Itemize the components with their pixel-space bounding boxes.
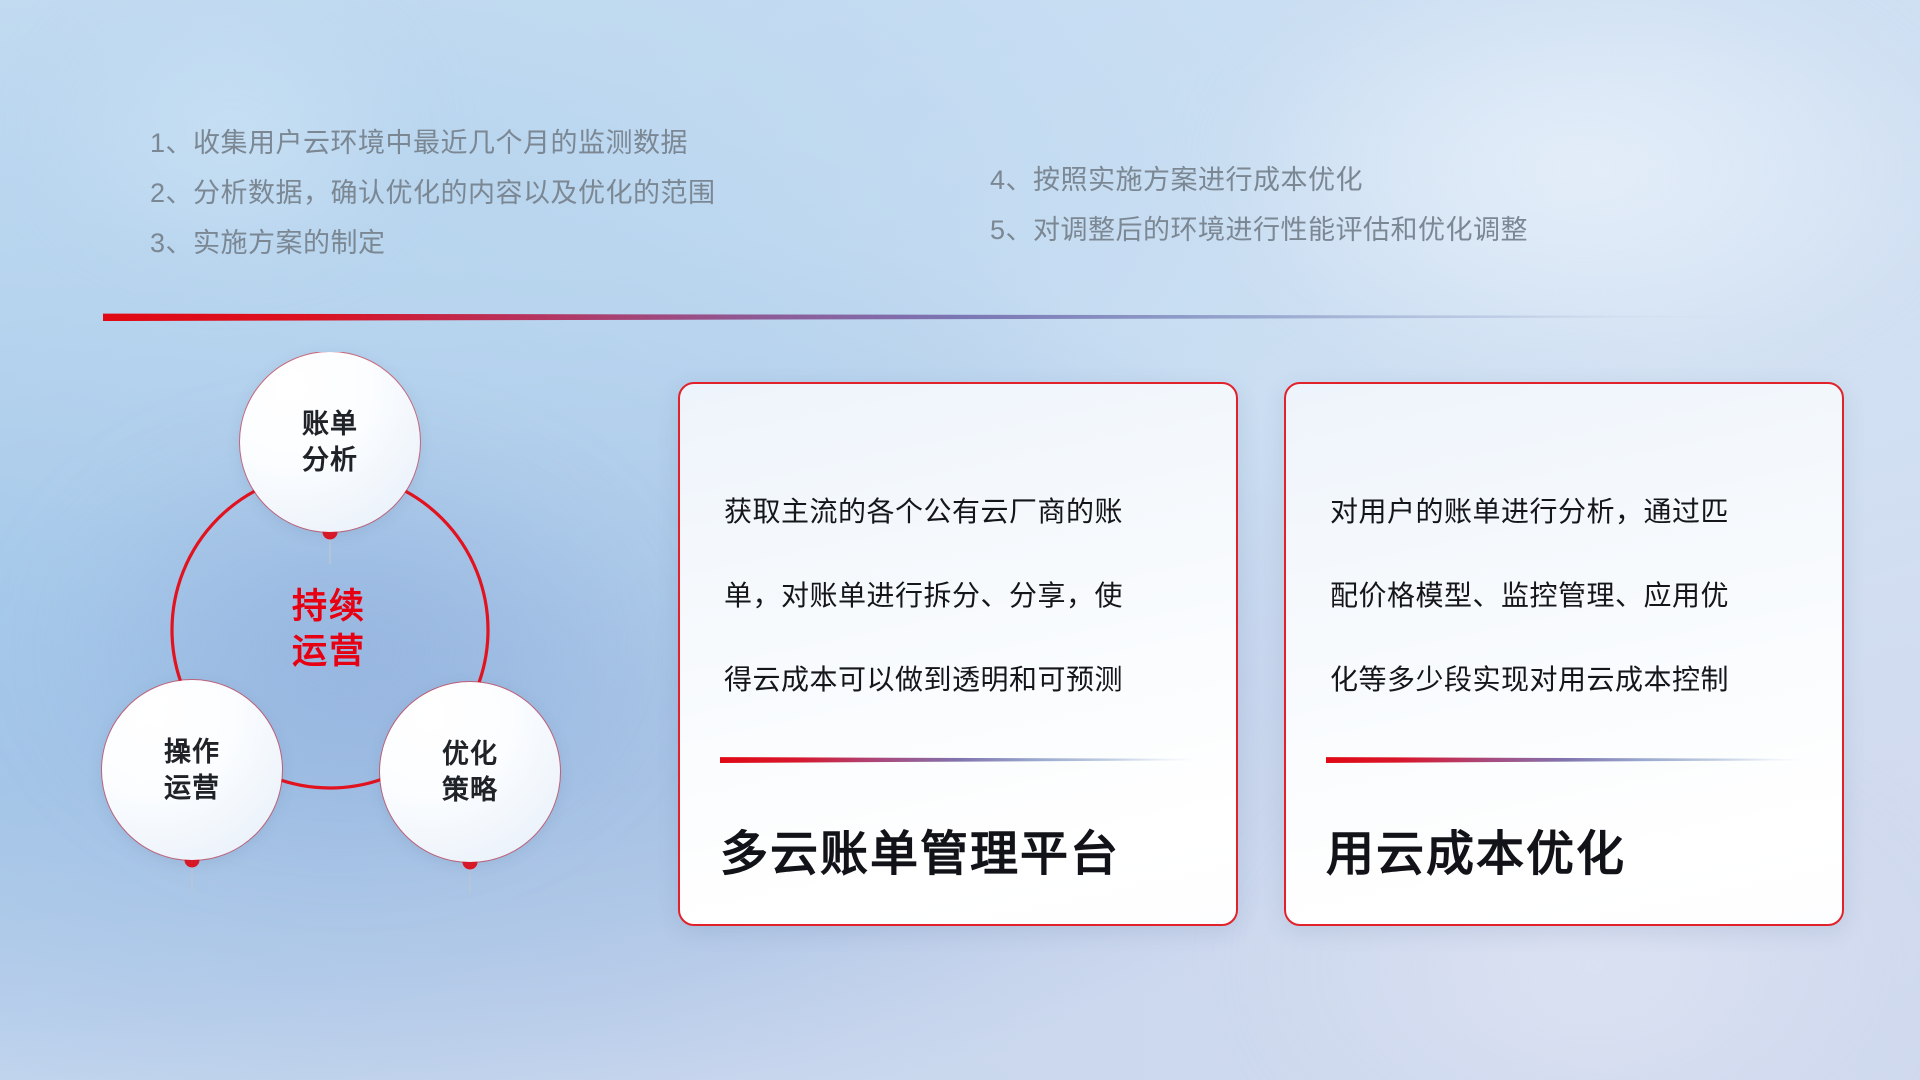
feature-card-multicloud-billing[interactable]: 获取主流的各个公有云厂商的账 单，对账单进行拆分、分享，使 得云成本可以做到透明… bbox=[678, 382, 1238, 926]
feature-card-1-body-line-3: 得云成本可以做到透明和可预测 bbox=[724, 638, 1206, 722]
feature-card-2-accent-rule bbox=[1326, 756, 1802, 763]
divider-gradient-bar bbox=[103, 312, 1753, 321]
feature-card-2-body-line-3: 化等多少段实现对用云成本控制 bbox=[1330, 638, 1812, 722]
feature-card-cloud-cost-optimization[interactable]: 对用户的账单进行分析，通过匹 配价格模型、监控管理、应用优 化等多少段实现对用云… bbox=[1284, 382, 1844, 926]
continuous-operations-venn-diagram: 账单分析 操作运营 优化策略 持续运营 bbox=[96, 352, 656, 932]
venn-center-label: 持续运营 bbox=[224, 570, 434, 690]
section-divider-line bbox=[103, 312, 1753, 321]
feature-card-2-title: 用云成本优化 bbox=[1326, 814, 1626, 884]
feature-card-2-body: 对用户的账单进行分析，通过匹 配价格模型、监控管理、应用优 化等多少段实现对用云… bbox=[1330, 470, 1812, 722]
process-step-5: 5、对调整后的环境进行性能评估和优化调整 bbox=[990, 205, 1528, 255]
process-step-4: 4、按照实施方案进行成本优化 bbox=[990, 155, 1528, 205]
feature-card-1-title: 多云账单管理平台 bbox=[720, 814, 1120, 884]
venn-lobe-bill-analysis[interactable]: 账单分析 bbox=[240, 352, 420, 532]
feature-card-1-body-line-1: 获取主流的各个公有云厂商的账 bbox=[724, 470, 1206, 554]
process-step-2: 2、分析数据，确认优化的内容以及优化的范围 bbox=[150, 168, 716, 218]
feature-card-1-body-line-2: 单，对账单进行拆分、分享，使 bbox=[724, 554, 1206, 638]
venn-lobe-optimization-strategy-label: 优化策略 bbox=[442, 736, 498, 809]
feature-card-1-accent-gradient bbox=[720, 756, 1196, 763]
feature-card-2-accent-gradient bbox=[1326, 756, 1802, 763]
venn-lobe-optimization-strategy[interactable]: 优化策略 bbox=[380, 682, 560, 862]
venn-lobe-operations-label: 操作运营 bbox=[164, 734, 220, 807]
process-steps-right-column: 4、按照实施方案进行成本优化 5、对调整后的环境进行性能评估和优化调整 bbox=[990, 155, 1528, 255]
venn-lobe-bill-analysis-label: 账单分析 bbox=[302, 406, 358, 479]
process-steps-left-column: 1、收集用户云环境中最近几个月的监测数据 2、分析数据，确认优化的内容以及优化的… bbox=[150, 118, 716, 268]
feature-card-1-accent-rule bbox=[720, 756, 1196, 763]
process-step-1: 1、收集用户云环境中最近几个月的监测数据 bbox=[150, 118, 716, 168]
venn-lobe-operations[interactable]: 操作运营 bbox=[102, 680, 282, 860]
process-step-3: 3、实施方案的制定 bbox=[150, 218, 716, 268]
feature-card-1-body: 获取主流的各个公有云厂商的账 单，对账单进行拆分、分享，使 得云成本可以做到透明… bbox=[724, 470, 1206, 722]
feature-card-2-body-line-1: 对用户的账单进行分析，通过匹 bbox=[1330, 470, 1812, 554]
venn-center-text: 持续运营 bbox=[292, 585, 366, 675]
feature-card-2-body-line-2: 配价格模型、监控管理、应用优 bbox=[1330, 554, 1812, 638]
